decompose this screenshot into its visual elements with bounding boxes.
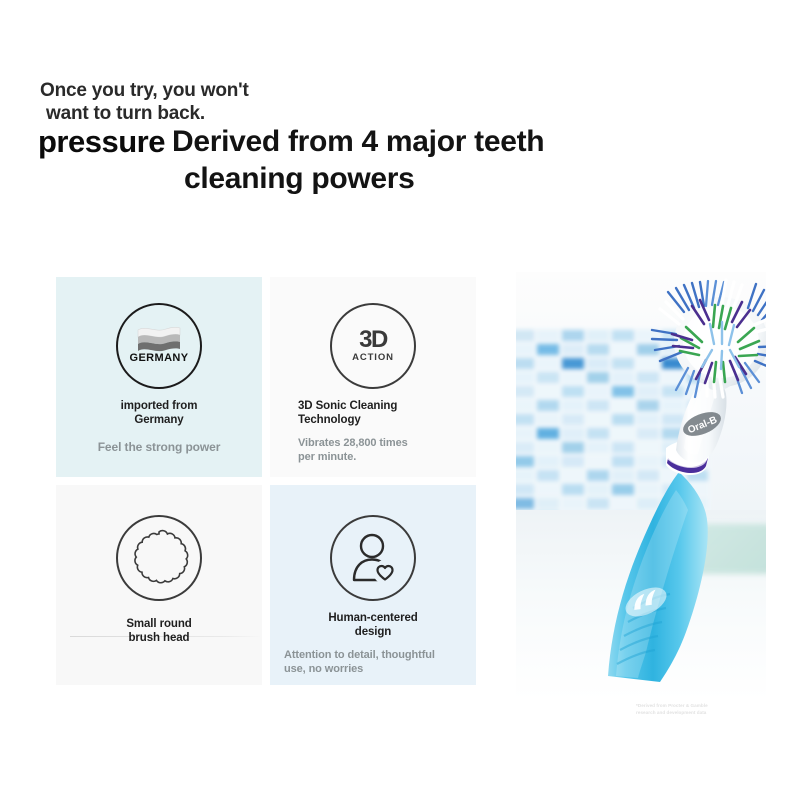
germany-flag-icon: GERMANY xyxy=(116,303,202,389)
kicker-line-2: want to turn back. xyxy=(40,103,370,125)
3d-action-icon: 3D ACTION xyxy=(330,303,416,389)
card-subtitle: Feel the strong power xyxy=(70,440,248,455)
card-title: Human-centered design xyxy=(284,611,462,639)
3d-icon-label: 3D xyxy=(359,329,387,351)
feature-card-3d-sonic-cleaning[interactable]: 3D ACTION 3D Sonic Cleaning Technology V… xyxy=(270,277,476,477)
person-heart-shape xyxy=(344,530,402,586)
card-title: imported from Germany xyxy=(70,399,248,427)
germany-icon-label: GERMANY xyxy=(129,353,188,364)
product-marketing-page: Once you try, you won't want to turn bac… xyxy=(0,0,800,800)
card-subtitle: Vibrates 28,800 times per minute. xyxy=(284,436,462,464)
overlap-word-pressure: pressure xyxy=(38,126,165,157)
page-title: Derived from 4 major teeth cleaning powe… xyxy=(172,124,642,197)
kicker-line-1: Once you try, you won't xyxy=(40,80,249,101)
card-title: Small round brush head xyxy=(70,617,248,645)
card-subtitle: Attention to detail, thoughtful use, no … xyxy=(284,648,462,676)
feature-card-small-round-brush-head[interactable]: Small round brush head xyxy=(56,485,262,685)
card-divider xyxy=(70,636,262,637)
toothbrush-illustration: Oral-B xyxy=(516,272,766,700)
flag-shape xyxy=(136,324,182,352)
headline-line-2: cleaning powers xyxy=(172,161,642,198)
round-brush-head-icon xyxy=(116,515,202,601)
icon-container xyxy=(284,515,462,601)
action-icon-label: ACTION xyxy=(352,352,394,363)
person-heart-icon xyxy=(330,515,416,601)
headline-line-1: Derived from 4 major teeth xyxy=(172,125,544,158)
icon-container: 3D ACTION xyxy=(284,303,462,389)
feature-grid: GERMANY imported from Germany Feel the s… xyxy=(56,277,484,685)
icon-container: GERMANY xyxy=(70,303,248,389)
scalloped-circle-shape xyxy=(128,527,190,589)
card-title: 3D Sonic Cleaning Technology xyxy=(284,399,462,427)
product-photo: Oral-B xyxy=(516,272,766,700)
icon-container xyxy=(70,515,248,601)
feature-card-imported-from-germany[interactable]: GERMANY imported from Germany Feel the s… xyxy=(56,277,262,477)
footnote-disclaimer: *Derived from Procter & Gamble research … xyxy=(636,703,754,717)
feature-card-human-centered-design[interactable]: Human-centered design Attention to detai… xyxy=(270,485,476,685)
